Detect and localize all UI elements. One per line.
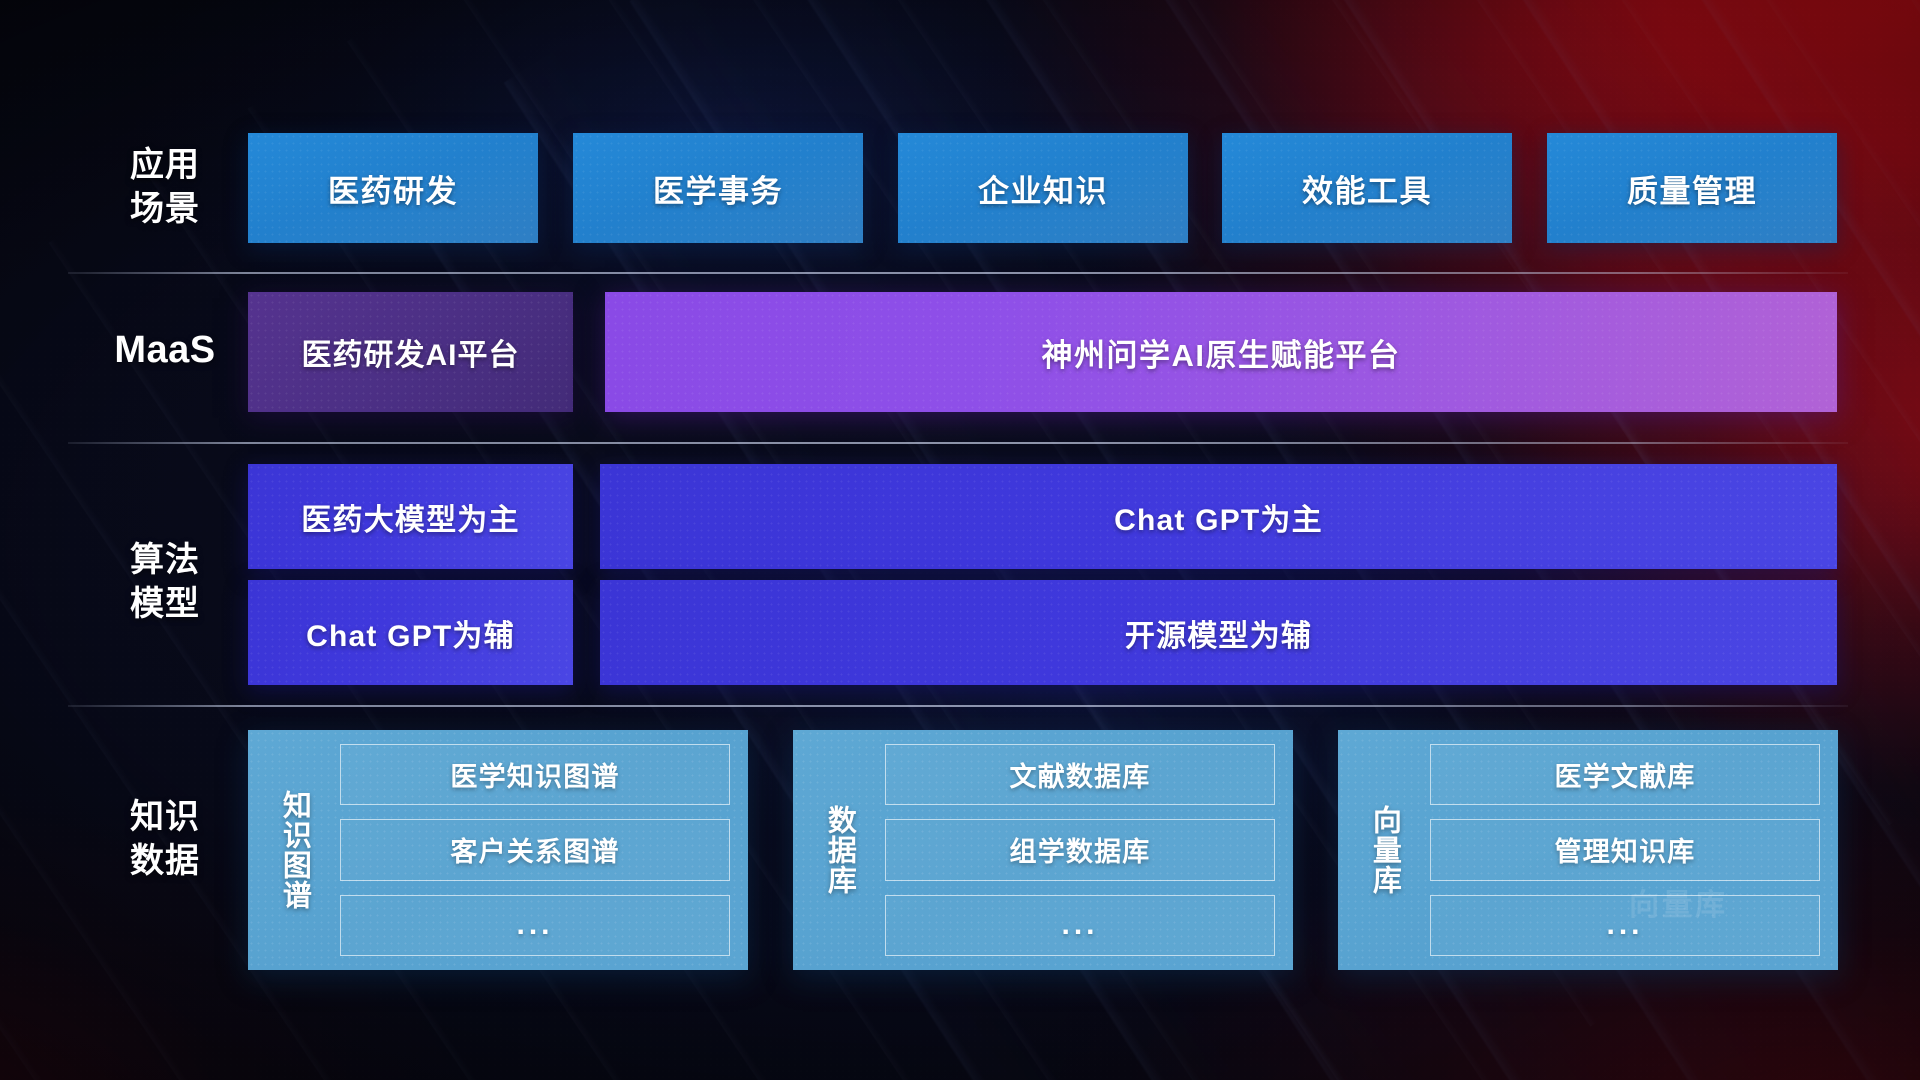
algorithm-box-label: 开源模型为辅 [1125,611,1312,655]
maas-box-drug-rd-ai-platform[interactable]: 医药研发AI平台 [248,292,573,412]
row-label-scenario-line1: 应用 [90,144,240,188]
scenario-box-label: 质量管理 [1627,166,1757,211]
row-label-knowledge-line1: 知识 [90,796,240,840]
knowledge-panel-items: 文献数据库 组学数据库 ... [885,744,1275,956]
row-label-maas-text: MaaS [114,326,215,375]
scenario-box-medical-affairs[interactable]: 医学事务 [573,133,863,243]
scenario-box-label: 医药研发 [328,166,458,211]
knowledge-panel-title: 数据库 [793,744,885,956]
diagram-content: 应用 场景 医药研发 医学事务 企业知识 效能工具 质量管理 MaaS 医药研发… [0,0,1920,1080]
algorithm-box-pharma-llm-primary[interactable]: 医药大模型为主 [248,464,573,569]
row-label-scenario-line2: 场景 [90,188,240,232]
row-label-algorithm-line2: 模型 [90,583,240,627]
row-label-maas: MaaS [90,320,240,380]
architecture-diagram: 应用 场景 医药研发 医学事务 企业知识 效能工具 质量管理 MaaS 医药研发… [0,0,1920,1080]
knowledge-panel-knowledge-graph[interactable]: 知识图谱 医学知识图谱 客户关系图谱 ... [248,730,748,970]
knowledge-panel-item[interactable]: 文献数据库 [885,744,1275,805]
scenario-box-drug-rd[interactable]: 医药研发 [248,133,538,243]
scenario-box-efficiency-tools[interactable]: 效能工具 [1222,133,1512,243]
maas-box-shenzhou-wenxue-platform[interactable]: 神州问学AI原生赋能平台 [605,292,1837,412]
scenario-box-quality-management[interactable]: 质量管理 [1547,133,1837,243]
knowledge-panel-items: 医学知识图谱 客户关系图谱 ... [340,744,730,956]
row-label-knowledge: 知识 数据 [90,775,240,905]
divider-scenario-maas [68,272,1848,274]
algorithm-box-chatgpt-secondary[interactable]: Chat GPT为辅 [248,580,573,685]
knowledge-panel-item[interactable]: 管理知识库 [1430,819,1820,880]
algorithm-box-label: 医药大模型为主 [301,495,519,539]
row-label-algorithm-line1: 算法 [90,539,240,583]
knowledge-panel-item-more[interactable]: ... [885,895,1275,956]
knowledge-panel-items: 医学文献库 管理知识库 ... [1430,744,1820,956]
algorithm-box-label: Chat GPT为主 [1114,495,1323,539]
maas-box-label: 医药研发AI平台 [302,330,520,374]
knowledge-panel-item[interactable]: 组学数据库 [885,819,1275,880]
scenario-box-enterprise-knowledge[interactable]: 企业知识 [898,133,1188,243]
row-label-algorithm: 算法 模型 [90,490,240,675]
row-label-scenario: 应用 场景 [90,133,240,243]
scenario-box-label: 医学事务 [653,166,783,211]
knowledge-panel-vector-store[interactable]: 向量库 向量库 医学文献库 管理知识库 ... [1338,730,1838,970]
algorithm-box-chatgpt-primary[interactable]: Chat GPT为主 [600,464,1837,569]
scenario-box-label: 企业知识 [978,166,1108,211]
knowledge-panel-item[interactable]: 医学知识图谱 [340,744,730,805]
knowledge-panel-item-more[interactable]: ... [340,895,730,956]
divider-maas-algorithm [68,442,1848,444]
knowledge-panel-title: 向量库 [1338,744,1430,956]
knowledge-panel-title: 知识图谱 [248,744,340,956]
maas-box-label: 神州问学AI原生赋能平台 [1042,330,1401,375]
row-label-knowledge-line2: 数据 [90,840,240,884]
knowledge-panel-item[interactable]: 客户关系图谱 [340,819,730,880]
knowledge-panel-database[interactable]: 数据库 文献数据库 组学数据库 ... [793,730,1293,970]
algorithm-box-label: Chat GPT为辅 [306,611,515,655]
algorithm-box-opensource-secondary[interactable]: 开源模型为辅 [600,580,1837,685]
divider-algorithm-knowledge [68,705,1848,707]
scenario-box-label: 效能工具 [1302,166,1432,211]
knowledge-panel-item[interactable]: 医学文献库 [1430,744,1820,805]
knowledge-panel-item-more[interactable]: ... [1430,895,1820,956]
